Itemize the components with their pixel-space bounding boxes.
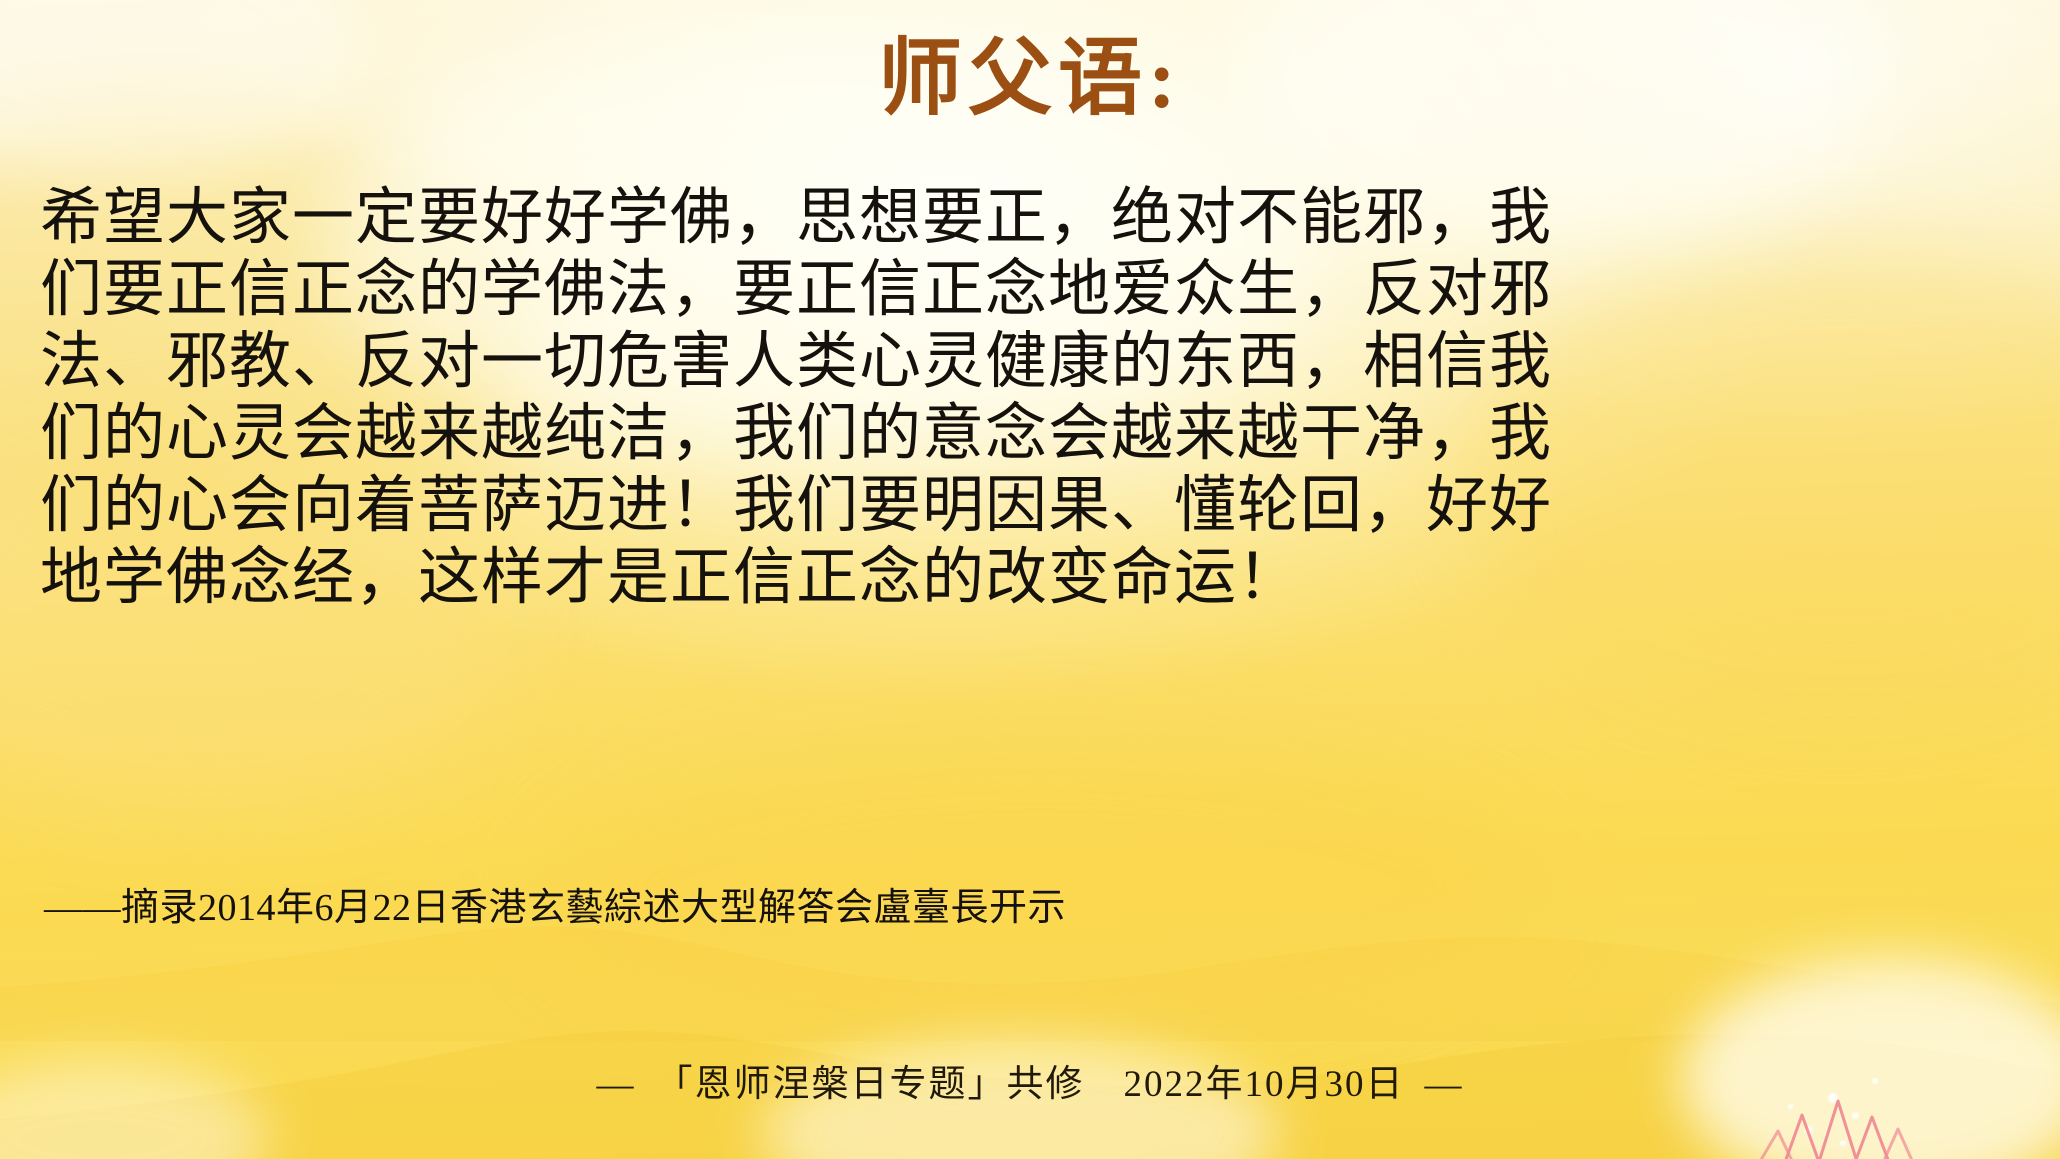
poster-content: 师父语: 希望大家一定要好好学佛，思想要正，绝对不能邪，我 们要正信正念的学佛法… — [0, 0, 2060, 1159]
quote-line: 地学佛念经，这样才是正信正念的改变命运！ — [40, 542, 2020, 614]
footer-dash-right: — — [1425, 1064, 1464, 1105]
page-title: 师父语: — [0, 34, 2060, 126]
poster-canvas: 师父语: 希望大家一定要好好学佛，思想要正，绝对不能邪，我 们要正信正念的学佛法… — [0, 0, 2060, 1159]
quote-line: 希望大家一定要好好学佛，思想要正，绝对不能邪，我 — [40, 182, 2020, 254]
footer-text: 「恩师涅槃日专题」共修 2022年10月30日 — [656, 1064, 1405, 1105]
quote-body: 希望大家一定要好好学佛，思想要正，绝对不能邪，我 们要正信正念的学佛法，要正信正… — [40, 182, 2020, 614]
quote-line: 们的心灵会越来越纯洁，我们的意念会越来越干净，我 — [40, 398, 2020, 470]
quote-line: 们的心会向着菩萨迈进！我们要明因果、懂轮回，好好 — [40, 470, 2020, 542]
footer-dash-left: — — [597, 1064, 636, 1105]
quote-line: 法、邪教、反对一切危害人类心灵健康的东西，相信我 — [40, 326, 2020, 398]
quote-line: 们要正信正念的学佛法，要正信正念地爱众生，反对邪 — [40, 254, 2020, 326]
footer-caption: —「恩师涅槃日专题」共修 2022年10月30日— — [0, 1053, 2060, 1107]
quote-attribution: ——摘录2014年6月22日香港玄藝綜述大型解答会盧臺長开示 — [44, 884, 1066, 932]
